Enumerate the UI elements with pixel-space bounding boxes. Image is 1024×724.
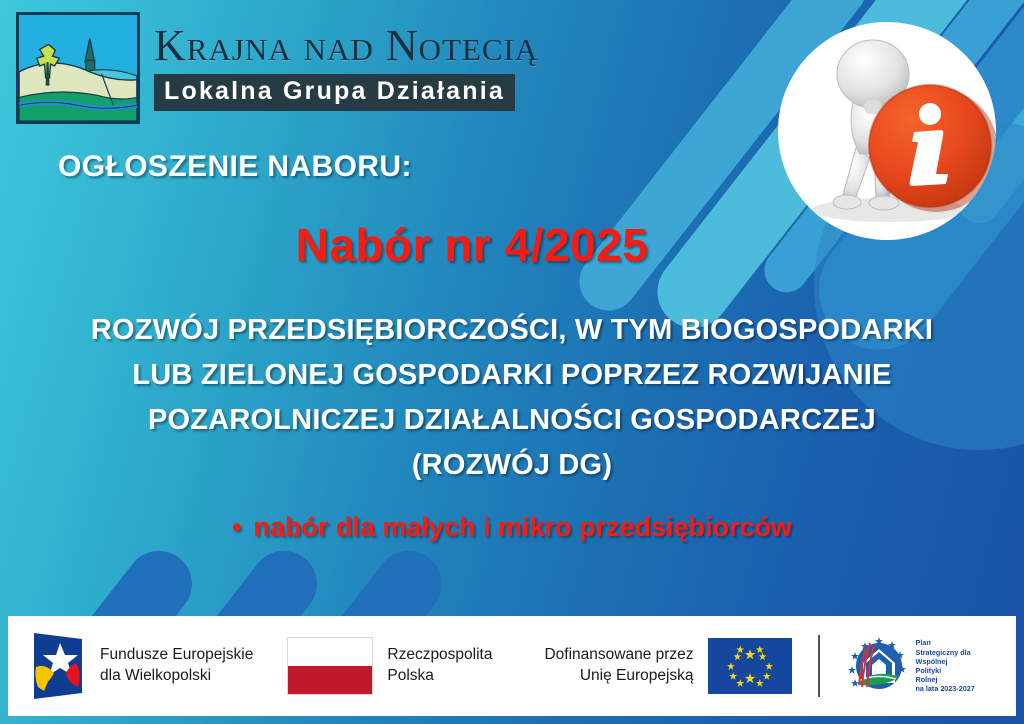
- flag-band-red: [288, 666, 372, 694]
- krajna-landscape-emblem-icon: [16, 12, 140, 124]
- logo-wordmark: Krajna nad Notecią Lokalna Grupa Działan…: [154, 12, 538, 111]
- headline-line-4: (ROZWÓJ DG): [0, 443, 1024, 488]
- flag-band-white: [288, 638, 372, 666]
- footer-line: Rzeczpospolita: [387, 645, 492, 666]
- footer-line: Polityki: [916, 666, 975, 675]
- headline: ROZWÓJ PRZEDSIĘBIORCZOŚCI, W TYM BIOGOSP…: [0, 308, 1024, 488]
- bullet-item: •nabór dla małych i mikro przedsiębiorcó…: [0, 512, 1024, 543]
- european-union-flag-icon: [708, 638, 792, 694]
- footer-line: Rolnej: [916, 675, 975, 684]
- logo-title: Krajna nad Notecią: [154, 24, 538, 68]
- logo-subtitle: Lokalna Grupa Działania: [154, 74, 515, 111]
- footer-line: Dofinansowane przez: [544, 645, 693, 666]
- bullet-marker-icon: •: [232, 514, 241, 541]
- headline-line-1: ROZWÓJ PRZEDSIĘBIORCZOŚCI, W TYM BIOGOSP…: [0, 308, 1024, 353]
- footer-line: Fundusze Europejskie: [100, 645, 253, 666]
- footer-text-wpr-plan-strategiczny: Plan Strategiczny dla Wspólnej Polityki …: [916, 638, 975, 693]
- funding-logos-footer: Fundusze Europejskie dla Wielkopolski Rz…: [8, 616, 1016, 716]
- footer-line: Strategiczny dla: [916, 648, 975, 657]
- bullet-text: nabór dla małych i mikro przedsiębiorców: [253, 512, 792, 542]
- headline-line-2: LUB ZIELONEJ GOSPODARKI POPRZEZ ROZWIJAN…: [0, 353, 1024, 398]
- footer-line: na lata 2023-2027: [916, 684, 975, 693]
- poland-flag-icon: [287, 637, 373, 695]
- announcement-poster: Krajna nad Notecią Lokalna Grupa Działan…: [0, 0, 1024, 724]
- footer-line: dla Wielkopolski: [100, 666, 253, 687]
- call-number: Nabór nr 4/2025: [0, 218, 1024, 272]
- footer-item-rzeczpospolita-polska: Rzeczpospolita Polska: [287, 637, 492, 695]
- announcement-label: OGŁOSZENIE NABORU:: [58, 150, 412, 184]
- organisation-logo: Krajna nad Notecią Lokalna Grupa Działan…: [16, 12, 538, 124]
- wpr-plan-strategiczny-logo-icon: [846, 635, 908, 697]
- footer-line: Unię Europejską: [544, 666, 693, 687]
- footer-line: Polska: [387, 666, 492, 687]
- headline-line-3: POZAROLNICZEJ DZIAŁALNOŚCI GOSPODARCZEJ: [0, 398, 1024, 443]
- person-pushing-information-icon: [778, 22, 996, 240]
- footer-item-fundusze-europejskie: Fundusze Europejskie dla Wielkopolski: [30, 629, 253, 703]
- footer-item-dofinansowane-przez-ue: Dofinansowane przez Unię Europejską: [544, 638, 791, 694]
- footer-item-wpr-plan-strategiczny: Plan Strategiczny dla Wspólnej Polityki …: [846, 635, 975, 697]
- footer-text-fundusze-europejskie: Fundusze Europejskie dla Wielkopolski: [100, 645, 253, 687]
- footer-text-dofinansowane-przez-ue: Dofinansowane przez Unię Europejską: [544, 645, 693, 687]
- footer-text-rzeczpospolita-polska: Rzeczpospolita Polska: [387, 645, 492, 687]
- footer-divider: [818, 635, 820, 697]
- fundusze-europejskie-logo: [30, 629, 86, 703]
- footer-line: Plan: [916, 638, 975, 647]
- footer-line: Wspólnej: [916, 657, 975, 666]
